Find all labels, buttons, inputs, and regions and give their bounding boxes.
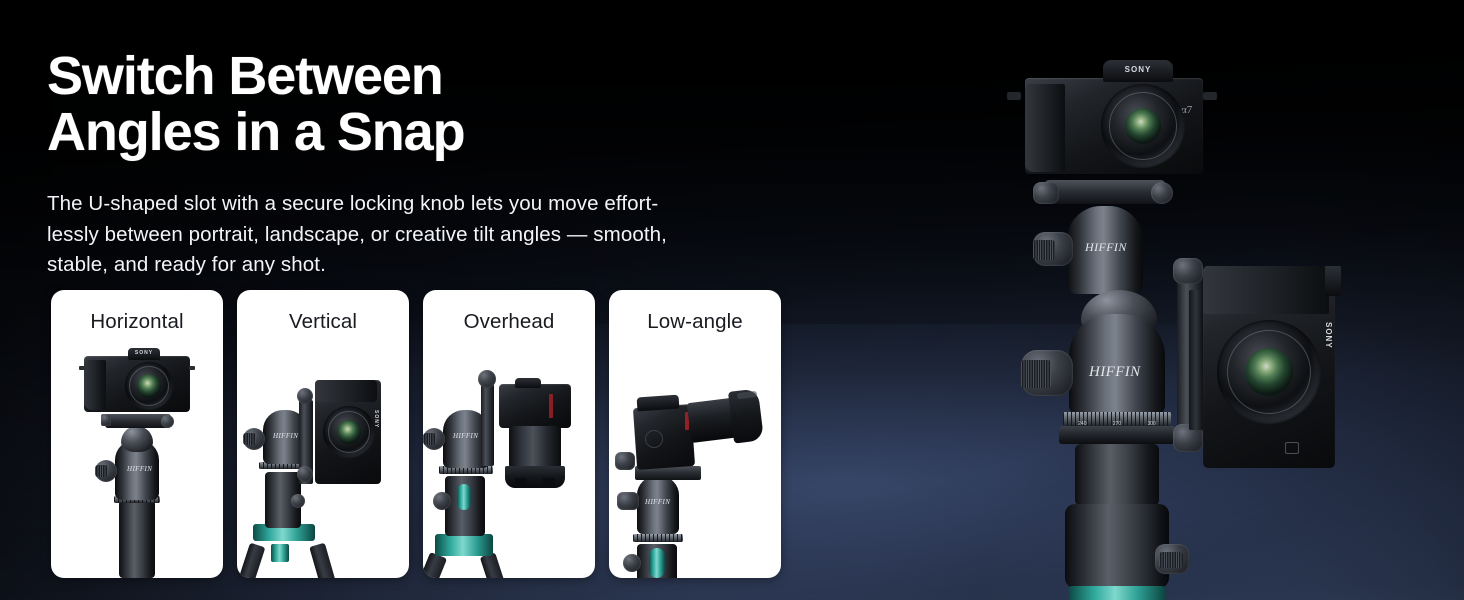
copy-block: Switch Between Angles in a Snap The U-sh… <box>47 48 857 281</box>
lens-hood-petal-right <box>543 478 555 488</box>
hero-top-lens-glass <box>1125 108 1161 144</box>
hero-l-bracket-knob-top <box>1173 258 1203 284</box>
hero-pan-base <box>1059 426 1175 444</box>
tripod-leg-left <box>237 543 265 578</box>
camera-brand-mark: SONY <box>129 350 159 356</box>
headline: Switch Between Angles in a Snap <box>47 48 857 160</box>
hero-product-photo: SONY α7 HIFFIN HIFFIN 240 270 300 <box>985 52 1405 600</box>
camera-viewfinder-hump <box>637 395 680 412</box>
brand-mark: HIFFIN <box>645 498 670 506</box>
hero-top-camera-brand: SONY <box>1111 65 1165 74</box>
column-teal-accent <box>457 484 471 510</box>
angle-card-horizontal[interactable]: Horizontal HIFFIN SONY <box>51 290 223 578</box>
tripod-column <box>119 500 155 578</box>
hero-side-lens-glass <box>1245 348 1293 396</box>
hero-upper-knob-ribs <box>1033 240 1055 260</box>
brand-mark: HIFFIN <box>273 432 298 440</box>
angle-card-row: Horizontal HIFFIN SONY <box>51 290 781 578</box>
camera-grip <box>84 360 106 410</box>
tripod-leg-right <box>309 543 337 578</box>
hero-clamp-knob-right <box>1151 182 1173 204</box>
card-photo-vertical: HIFFIN SONY <box>237 348 409 578</box>
u-slot-arm <box>481 384 494 466</box>
subcopy: The U-shaped slot with a secure locking … <box>47 189 847 281</box>
camera-grip <box>315 380 377 402</box>
card-photo-overhead: HIFFIN <box>423 348 595 578</box>
hero-tripod-column-lower <box>1065 504 1169 588</box>
hero-column-lock-ribs <box>1159 552 1183 568</box>
angle-card-low-angle[interactable]: Low-angle HIFFIN <box>609 290 781 578</box>
clamp-knob <box>161 415 174 428</box>
camera-accent-stripe <box>549 394 553 418</box>
hero-side-camera-port-icon <box>1285 442 1299 454</box>
strap-lug-left <box>79 366 85 370</box>
angle-card-vertical[interactable]: Vertical HIFFIN <box>237 290 409 578</box>
hero-tripod-column-upper <box>1075 444 1159 506</box>
tripod-teal-collar <box>435 534 493 556</box>
camera-lens-barrel <box>509 426 561 468</box>
knob-ribs <box>423 433 436 445</box>
l-bracket-knob-bottom <box>297 466 313 482</box>
camera-body <box>499 384 571 428</box>
card-label: Overhead <box>423 310 595 334</box>
tilt-knob <box>615 452 635 470</box>
locking-knob <box>617 492 639 510</box>
knob-ribs <box>95 465 108 477</box>
u-slot-knob <box>478 370 496 388</box>
promo-banner: Switch Between Angles in a Snap The U-sh… <box>0 0 1464 600</box>
hero-quick-release-clamp <box>1045 180 1165 204</box>
angle-card-overhead[interactable]: Overhead HIFFIN <box>423 290 595 578</box>
leg-lock-knob <box>433 492 451 510</box>
column-teal-accent <box>649 548 665 578</box>
hero-upper-brand-mark: HIFFIN <box>1085 240 1127 255</box>
hero-top-camera-grip <box>1025 84 1065 172</box>
tripod-leg-right <box>480 552 506 578</box>
hero-side-camera-brand: SONY <box>1321 322 1333 349</box>
hero-locking-knob-ribs <box>1021 360 1051 388</box>
hero-brand-mark: HIFFIN <box>1089 364 1141 381</box>
brand-mark: HIFFIN <box>127 465 152 473</box>
card-label: Low-angle <box>609 310 781 334</box>
pan-scale <box>633 534 683 542</box>
l-bracket-knob-top <box>297 388 313 404</box>
hero-l-bracket-rail <box>1189 290 1203 430</box>
camera-viewfinder-hump <box>515 378 541 388</box>
card-label: Horizontal <box>51 310 223 334</box>
card-photo-horizontal: HIFFIN SONY <box>51 348 223 578</box>
knob-ribs <box>243 433 256 445</box>
strap-lug-right <box>189 366 195 370</box>
lens-hood <box>505 466 565 488</box>
camera-brand-mark: SONY <box>369 410 379 428</box>
lens-hood-petal-left <box>515 478 527 488</box>
leg-lock-knob <box>623 554 641 572</box>
hero-strap-lug-left <box>1007 92 1021 100</box>
hero-side-camera-shutter <box>1325 266 1341 296</box>
ball-head-dome <box>121 426 153 452</box>
hero-tripod-teal-collar <box>1069 586 1165 600</box>
clamp-lever <box>101 414 111 426</box>
hero-strap-lug-right <box>1203 92 1217 100</box>
tripod-center-hook <box>271 544 289 562</box>
hero-side-camera-grip <box>1203 266 1329 314</box>
camera-dial <box>645 430 663 448</box>
brand-mark: HIFFIN <box>453 432 478 440</box>
leg-angle-knob <box>291 494 305 508</box>
card-photo-low-angle: HIFFIN <box>609 348 781 578</box>
lens-glass <box>337 420 361 444</box>
lens-glass <box>137 374 161 398</box>
card-label: Vertical <box>237 310 409 334</box>
hero-clamp-knob-left <box>1033 182 1059 204</box>
